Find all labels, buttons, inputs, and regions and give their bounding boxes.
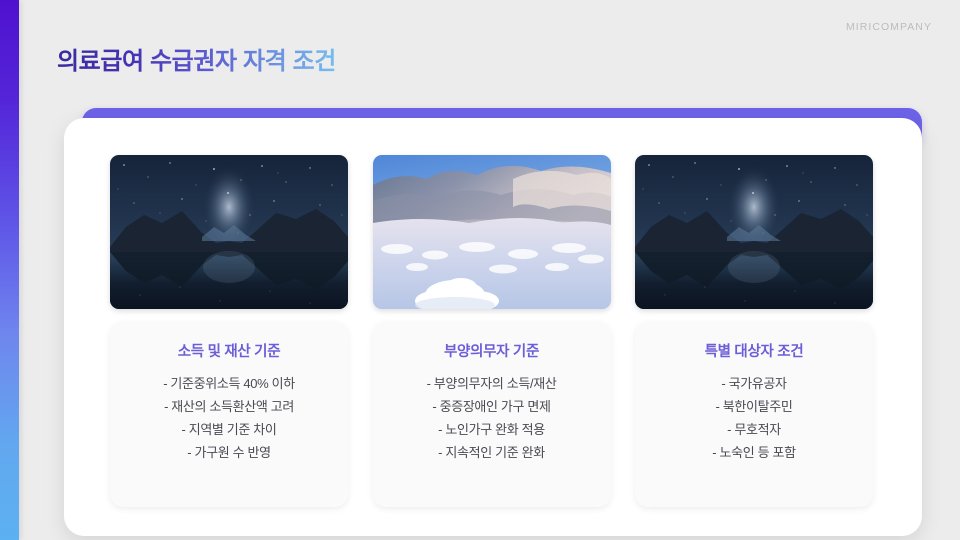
list-item: - 무호적자 [712,418,795,441]
info-card: 특별 대상자 조건 - 국가유공자 - 북한이탈주민 - 무호적자 - 노숙인 … [635,322,873,507]
left-accent-stripe [0,0,19,540]
list-item: - 노인가구 완화 적용 [427,418,557,441]
list-item: - 부양의무자의 소득/재산 [427,372,557,395]
list-item: - 국가유공자 [712,372,795,395]
content-column: 부양의무자 기준 - 부양의무자의 소득/재산 - 중증장애인 가구 면제 - … [373,155,611,507]
columns-container: 소득 및 재산 기준 - 기준중위소득 40% 이하 - 재산의 소득환산액 고… [110,155,873,507]
list-item: - 중증장애인 가구 면제 [427,395,557,418]
content-column: 소득 및 재산 기준 - 기준중위소득 40% 이하 - 재산의 소득환산액 고… [110,155,348,507]
list-item: - 기준중위소득 40% 이하 [163,372,295,395]
night-sky-mountain-lake-image [635,155,873,309]
content-column: 특별 대상자 조건 - 국가유공자 - 북한이탈주민 - 무호적자 - 노숙인 … [635,155,873,507]
card-heading: 특별 대상자 조건 [705,340,804,361]
card-heading: 부양의무자 기준 [444,340,539,361]
page-title: 의료급여 수급권자 자격 조건 [57,41,336,76]
bullet-list: - 국가유공자 - 북한이탈주민 - 무호적자 - 노숙인 등 포함 [712,372,795,464]
info-card: 부양의무자 기준 - 부양의무자의 소득/재산 - 중증장애인 가구 면제 - … [373,322,611,507]
aerial-cloudscape-image [373,155,611,309]
list-item: - 북한이탈주민 [712,395,795,418]
list-item: - 지속적인 기준 완화 [427,441,557,464]
list-item: - 재산의 소득환산액 고려 [163,395,295,418]
bullet-list: - 기준중위소득 40% 이하 - 재산의 소득환산액 고려 - 지역별 기준 … [163,372,295,464]
company-logo-text: MIRICOMPANY [846,21,932,33]
card-heading: 소득 및 재산 기준 [178,340,280,361]
list-item: - 노숙인 등 포함 [712,441,795,464]
info-card: 소득 및 재산 기준 - 기준중위소득 40% 이하 - 재산의 소득환산액 고… [110,322,348,507]
list-item: - 지역별 기준 차이 [163,418,295,441]
list-item: - 가구원 수 반영 [163,441,295,464]
night-sky-mountain-lake-image [110,155,348,309]
bullet-list: - 부양의무자의 소득/재산 - 중증장애인 가구 면제 - 노인가구 완화 적… [427,372,557,464]
